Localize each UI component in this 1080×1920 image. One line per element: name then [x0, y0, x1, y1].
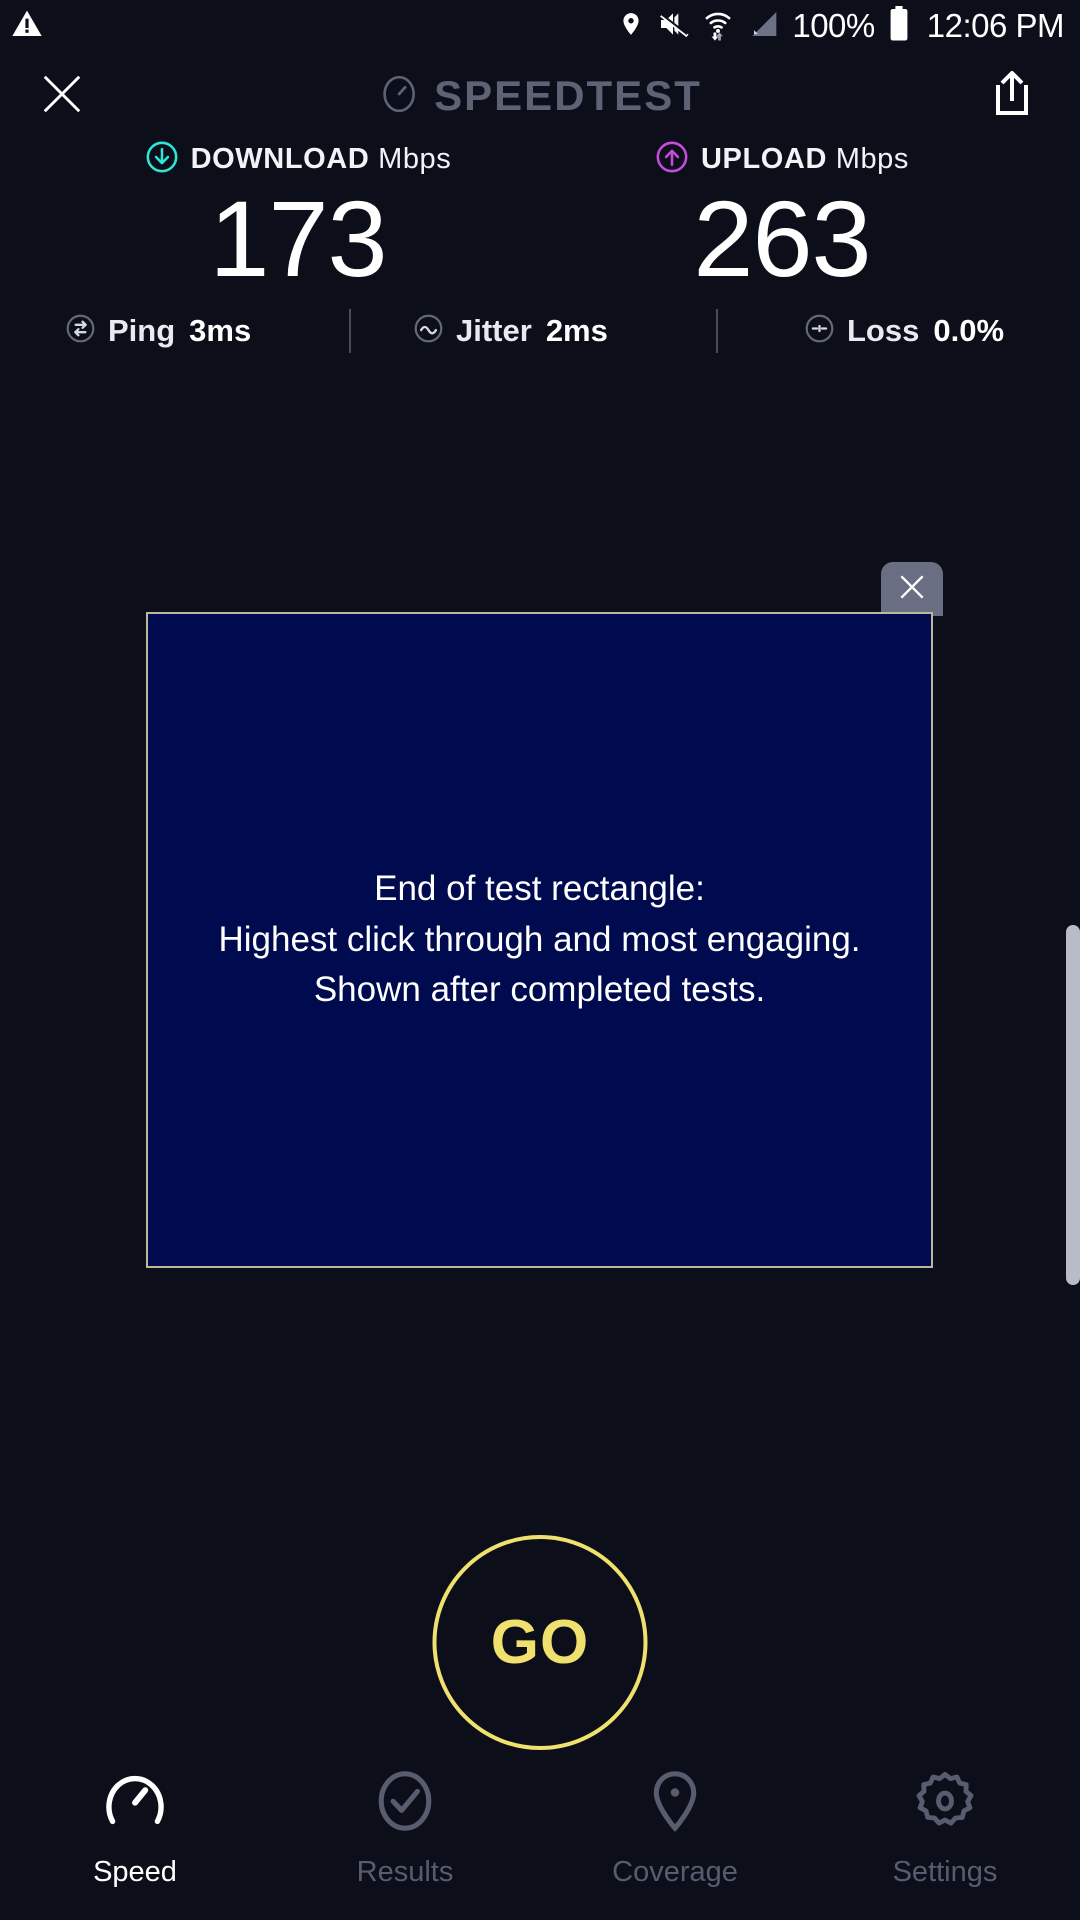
speedtest-app-screen: 100% 12:06 PM SPEEDTEST — [0, 0, 1080, 1920]
battery-full-icon — [888, 6, 910, 47]
loss-label: Loss — [847, 313, 919, 349]
download-upload-row: DOWNLOAD Mbps 173 UPLOAD Mbps 263 — [0, 140, 1080, 293]
loss-value: 0.0% — [933, 313, 1004, 349]
download-arrow-icon — [145, 140, 179, 179]
divider — [349, 309, 351, 353]
download-header: DOWNLOAD Mbps — [145, 140, 452, 179]
warning-triangle-icon — [10, 8, 44, 45]
status-bar: 100% 12:06 PM — [0, 0, 1080, 52]
speedometer-icon — [101, 1767, 169, 1840]
jitter-icon — [412, 312, 445, 350]
vertical-scrollbar[interactable] — [1066, 925, 1080, 1285]
ad-line-3: Shown after completed tests. — [218, 965, 860, 1016]
ad-close-button[interactable] — [881, 562, 943, 616]
nav-item-results[interactable]: Results — [270, 1767, 540, 1889]
clock-label: 12:06 PM — [927, 7, 1064, 45]
upload-label: UPLOAD Mbps — [701, 143, 909, 176]
status-bar-left-icons — [10, 8, 44, 45]
cellular-signal-icon — [747, 8, 779, 45]
gear-icon — [911, 1767, 979, 1840]
close-button[interactable] — [36, 70, 88, 122]
nav-item-coverage[interactable]: Coverage — [540, 1767, 810, 1889]
ad-line-2: Highest click through and most engaging. — [218, 915, 860, 966]
page-title: SPEEDTEST — [434, 72, 702, 120]
jitter-value: 2ms — [546, 313, 608, 349]
app-logo: SPEEDTEST — [378, 72, 702, 120]
location-pin-icon — [618, 8, 644, 45]
upload-value: 263 — [693, 185, 870, 293]
nav-item-settings[interactable]: Settings — [810, 1767, 1080, 1889]
check-circle-icon — [371, 1767, 439, 1840]
nav-item-speed[interactable]: Speed — [0, 1767, 270, 1889]
ad-text: End of test rectangle: Highest click thr… — [206, 864, 872, 1016]
jitter-label: Jitter — [456, 313, 532, 349]
close-icon — [39, 71, 85, 122]
download-metric: DOWNLOAD Mbps 173 — [108, 140, 488, 293]
ping-value: 3ms — [189, 313, 251, 349]
bottom-navigation-bar: Speed Results Coverage — [0, 1755, 1080, 1920]
ad-line-1: End of test rectangle: — [218, 864, 860, 915]
nav-label-results: Results — [357, 1856, 454, 1889]
divider — [716, 309, 718, 353]
go-button-label: GO — [491, 1607, 589, 1678]
ping-label: Ping — [108, 313, 175, 349]
go-button[interactable]: GO — [433, 1535, 648, 1750]
ping-icon — [64, 312, 97, 350]
speedometer-icon — [378, 73, 420, 120]
mute-icon — [657, 8, 689, 45]
battery-percent-label: 100% — [792, 7, 874, 45]
ping-metric: Ping 3ms — [64, 312, 251, 350]
jitter-metric: Jitter 2ms — [412, 312, 608, 350]
advertisement-banner[interactable]: End of test rectangle: Highest click thr… — [146, 612, 933, 1268]
results-summary: DOWNLOAD Mbps 173 UPLOAD Mbps 263 — [0, 140, 1080, 293]
upload-metric: UPLOAD Mbps 263 — [592, 140, 972, 293]
app-header: SPEEDTEST — [0, 56, 1080, 136]
nav-label-coverage: Coverage — [612, 1856, 738, 1889]
nav-label-settings: Settings — [893, 1856, 998, 1889]
nav-label-speed: Speed — [93, 1856, 177, 1889]
download-value: 173 — [209, 185, 386, 293]
loss-metric: Loss 0.0% — [803, 312, 1004, 350]
loss-icon — [803, 312, 836, 350]
ping-jitter-loss-row: Ping 3ms Jitter 2ms Loss 0.0 — [0, 305, 1080, 357]
location-pin-icon — [641, 1767, 709, 1840]
close-icon — [896, 571, 928, 608]
upload-arrow-icon — [655, 140, 689, 179]
status-bar-right-icons: 100% 12:06 PM — [618, 6, 1064, 47]
download-label: DOWNLOAD Mbps — [191, 143, 452, 176]
share-icon — [990, 69, 1034, 124]
upload-header: UPLOAD Mbps — [655, 140, 909, 179]
wifi-icon — [702, 7, 734, 46]
share-button[interactable] — [986, 68, 1038, 124]
